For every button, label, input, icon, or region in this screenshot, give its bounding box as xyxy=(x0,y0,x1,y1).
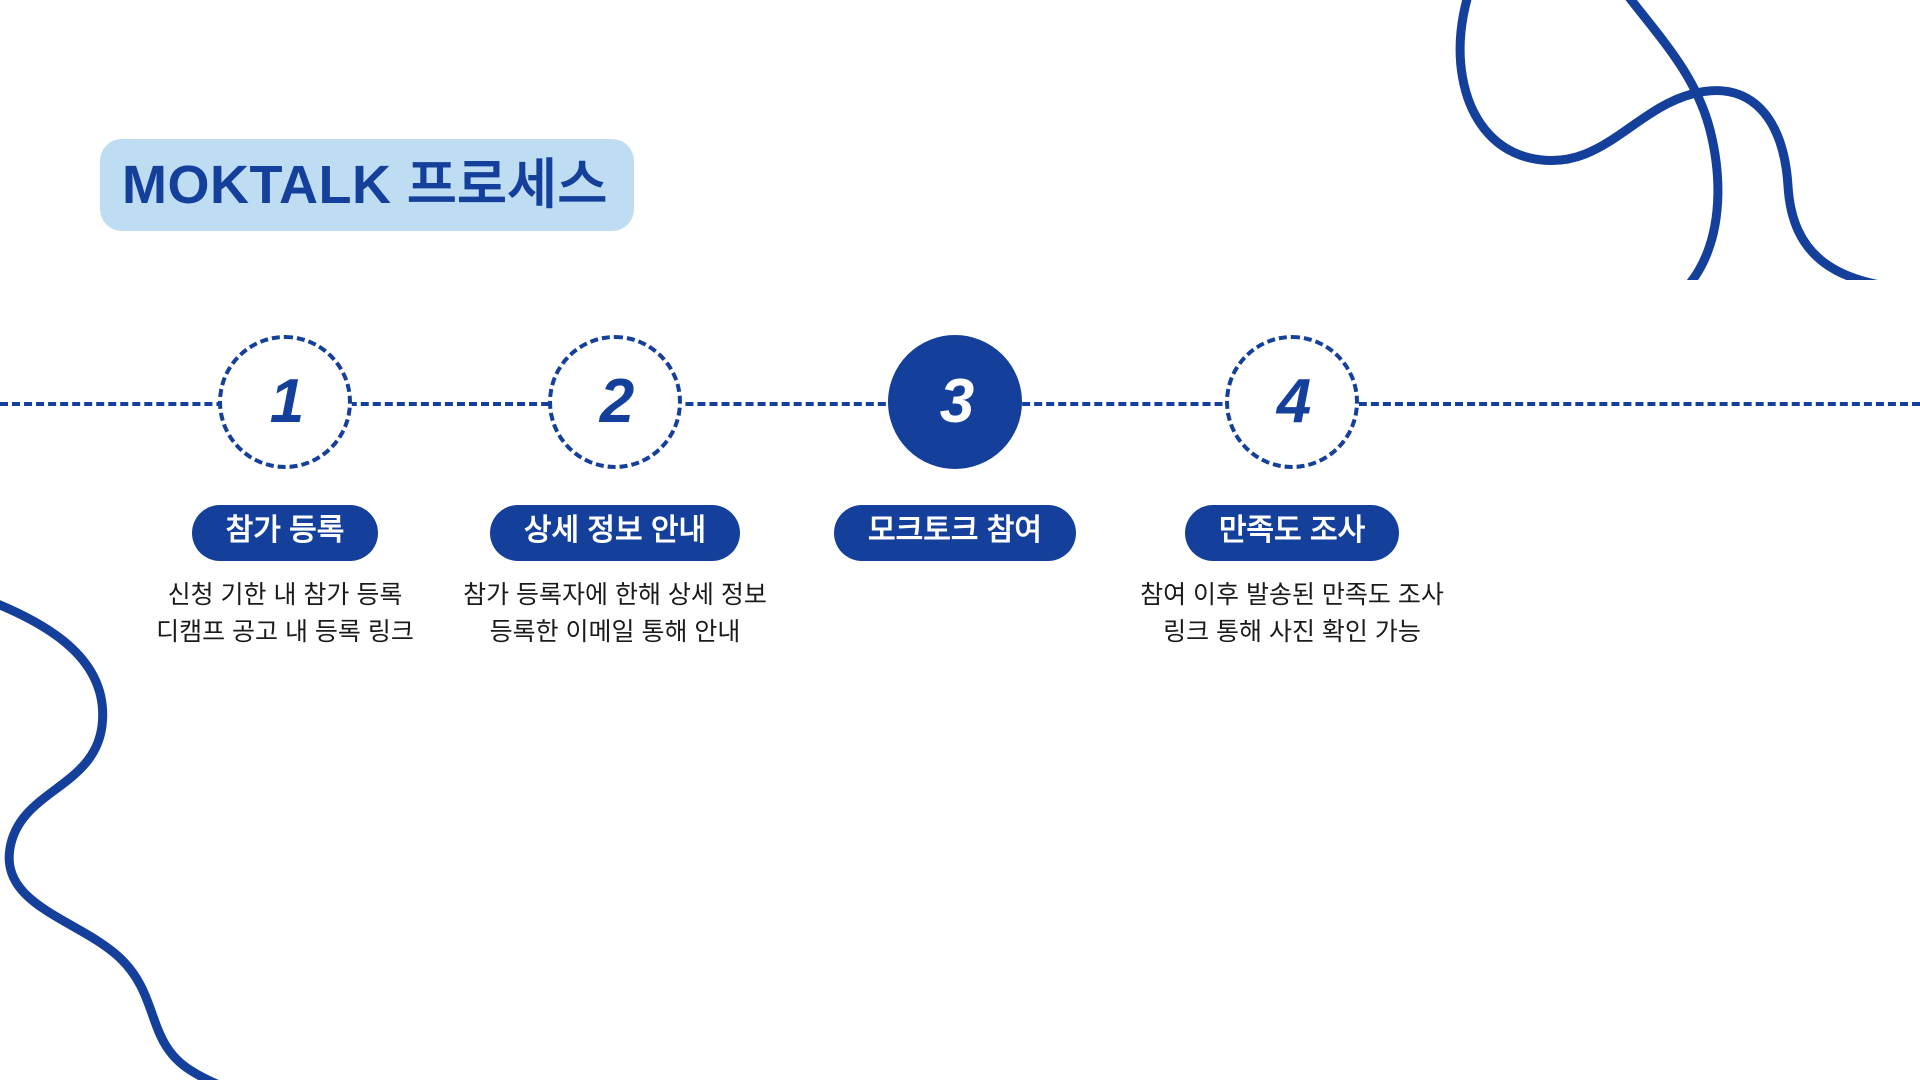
step-4-description-line-2: 링크 통해 사진 확인 가능 xyxy=(1140,614,1444,652)
step-4-number: 4 xyxy=(1277,371,1311,433)
step-3-circle[interactable]: 3 xyxy=(888,335,1022,469)
step-2-label: 상세 정보 안내 xyxy=(490,505,740,561)
step-1-number: 1 xyxy=(270,371,304,433)
step-2-number: 2 xyxy=(600,371,634,433)
step-4-label: 만족도 조사 xyxy=(1185,505,1399,561)
step-1-description-line-2: 디캠프 공고 내 등록 링크 xyxy=(156,614,414,652)
step-4-circle[interactable]: 4 xyxy=(1225,335,1359,469)
step-1[interactable]: 1 참가 등록 신청 기한 내 참가 등록 디캠프 공고 내 등록 링크 xyxy=(115,335,455,652)
step-4[interactable]: 4 만족도 조사 참여 이후 발송된 만족도 조사 링크 통해 사진 확인 가능 xyxy=(1122,335,1462,652)
step-2-circle[interactable]: 2 xyxy=(548,335,682,469)
step-2-description-line-1: 참가 등록자에 한해 상세 정보 xyxy=(463,577,767,615)
step-1-description: 신청 기한 내 참가 등록 디캠프 공고 내 등록 링크 xyxy=(156,577,414,652)
step-4-description: 참여 이후 발송된 만족도 조사 링크 통해 사진 확인 가능 xyxy=(1140,577,1444,652)
step-4-description-line-1: 참여 이후 발송된 만족도 조사 xyxy=(1140,577,1444,615)
step-1-circle[interactable]: 1 xyxy=(218,335,352,469)
slide-canvas: MOKTALK 프로세스 1 참가 등록 신청 기한 내 참가 등록 디캠프 공… xyxy=(0,0,1920,1080)
process-steps: 1 참가 등록 신청 기한 내 참가 등록 디캠프 공고 내 등록 링크 2 상… xyxy=(0,0,1920,1080)
step-1-label: 참가 등록 xyxy=(192,505,379,561)
step-3[interactable]: 3 모크토크 참여 xyxy=(785,335,1125,561)
step-2[interactable]: 2 상세 정보 안내 참가 등록자에 한해 상세 정보 등록한 이메일 통해 안… xyxy=(445,335,785,652)
step-2-description-line-2: 등록한 이메일 통해 안내 xyxy=(463,614,767,652)
step-3-label: 모크토크 참여 xyxy=(834,505,1076,561)
step-3-number: 3 xyxy=(940,371,974,433)
step-1-description-line-1: 신청 기한 내 참가 등록 xyxy=(156,577,414,615)
step-2-description: 참가 등록자에 한해 상세 정보 등록한 이메일 통해 안내 xyxy=(463,577,767,652)
